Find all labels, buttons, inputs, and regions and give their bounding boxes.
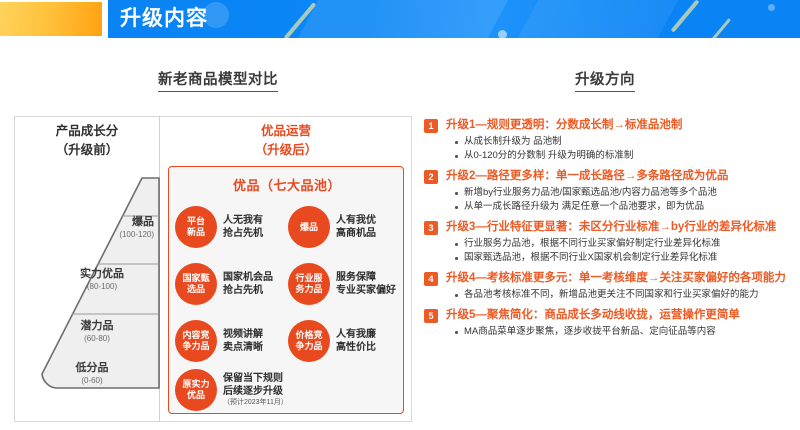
new-model-title-line1: 优品运营 (261, 124, 311, 138)
tier-name: 爆品 (70, 216, 154, 229)
header-banner: 升级内容 (108, 0, 800, 38)
pool-description: 人有我廉 高性价比 (336, 328, 376, 354)
pool-desc-line2: 抢占先机 (223, 228, 263, 239)
upgrade-number-badge: 5 (424, 309, 438, 323)
pool-desc-line1: 人有我廉 (336, 329, 376, 340)
upgrade-number-badge: 4 (424, 272, 438, 286)
upgrade-item[interactable]: 4 升级4—考核标准更多元：单一考核维度→关注买家偏好的各项能力 各品池考核标准… (424, 271, 796, 302)
pool-item[interactable]: 行业服务力品 服务保障 专业买家偏好 (288, 256, 399, 313)
slide-root: 升级内容 新老商品模型对比 升级方向 产品成长分 （升级前） 爆品 (100-1… (0, 0, 800, 430)
pool-bubble-label: 国家甄选品 (182, 273, 209, 295)
upgrade-bullet: 新增by行业服务力品池/国家甄选品池/内容力品池等多个品池 (454, 186, 796, 200)
pool-bubble: 平台新品 (175, 206, 217, 248)
tier-row-baopin: 爆品 (100-120) (70, 216, 154, 240)
upgrade-bullet: 从成长制升级为 品池制 (454, 135, 796, 149)
pool-desc-note: （预计2023年11月） (223, 398, 288, 408)
tier-row-difenpin: 低分品 (0-60) (30, 362, 154, 386)
header-accent-block (0, 2, 102, 36)
pool-description: 人有我优 高商机品 (336, 214, 376, 240)
upgrade-bullets: 从成长制升级为 品池制 从0-120分的分数制 升级为明确的标准制 (454, 135, 796, 163)
pool-bubble: 原实力优品 (175, 369, 217, 411)
upgrade-bullet: 国家甄选品池，根据不同行业X国家机会制定行业差异化标准 (454, 251, 796, 265)
pool-description: 保留当下规则 后续逐步升级 （预计2023年11月） (223, 372, 288, 408)
pool-desc-line1: 国家机会品 (223, 272, 273, 283)
upgrade-item[interactable]: 2 升级2—路径更多样：单一成长路径→多条路径成为优品 新增by行业服务力品池/… (424, 169, 796, 214)
upgrade-bullet: 从单一成长路径升级为 满足任意一个品池要求，即为优品 (454, 200, 796, 214)
upgrade-title: 升级2—路径更多样：单一成长路径→多条路径成为优品 (446, 169, 728, 184)
tier-row-qianlipin: 潜力品 (60-80) (40, 320, 154, 344)
pool-desc-line2: 专业买家偏好 (336, 285, 396, 296)
pool-bubble: 内容竞争力品 (175, 320, 217, 362)
pool-bubble: 行业服务力品 (288, 263, 330, 305)
pool-box-header: 优品（七大品池） (169, 175, 405, 194)
pool-bubble: 国家甄选品 (175, 263, 217, 305)
pool-desc-line2: 后续逐步升级 (223, 386, 283, 397)
upgrade-bullet: 行业服务力品池，根据不同行业买家偏好制定行业差异化标准 (454, 237, 796, 251)
tier-name: 潜力品 (40, 320, 154, 333)
upgrade-directions-list: 1 升级1—规则更透明：分数成长制→标准品池制 从成长制升级为 品池制 从0-1… (424, 118, 796, 345)
upgrade-title: 升级1—规则更透明：分数成长制→标准品池制 (446, 118, 682, 133)
pool-desc-line1: 保留当下规则 (223, 373, 283, 384)
upgrade-bullet: MA商品菜单逐步聚焦，逐步收拢平台新品、定向征品等内容 (454, 325, 796, 339)
old-model-panel: 产品成长分 （升级前） 爆品 (100-120) 实力优品 (80-100) 潜… (14, 116, 160, 422)
upgrade-item-header: 4 升级4—考核标准更多元：单一考核维度→关注买家偏好的各项能力 (424, 271, 796, 286)
upgrade-bullet: 从0-120分的分数制 升级为明确的标准制 (454, 149, 796, 163)
upgrade-bullets: MA商品菜单逐步聚焦，逐步收拢平台新品、定向征品等内容 (454, 325, 796, 339)
tier-row-shiliyoupin: 实力优品 (80-100) (50, 268, 154, 292)
banner-dot-icon (498, 30, 507, 38)
pool-desc-line1: 服务保障 (336, 272, 376, 283)
product-pool-box: 优品（七大品池） 平台新品 人无我有 抢占先机 爆品 人有我优 高商机品 (168, 166, 404, 414)
banner-wedge-decoration-2 (512, 0, 685, 38)
pool-bubble-label: 爆品 (300, 222, 318, 233)
banner-stripe-decoration-3 (712, 18, 731, 38)
pool-item[interactable]: 爆品 人有我优 高商机品 (288, 199, 399, 256)
pool-description: 视频讲解 卖点清晰 (223, 328, 263, 354)
upgrade-number-badge: 2 (424, 170, 438, 184)
pool-description: 人无我有 抢占先机 (223, 214, 263, 240)
page-title: 升级内容 (120, 5, 208, 33)
tier-range: (100-120) (70, 229, 154, 240)
upgrade-item[interactable]: 5 升级5—聚焦简化：商品成长多动线收拢，运营操作更简单 MA商品菜单逐步聚焦，… (424, 308, 796, 339)
upgrade-title: 升级4—考核标准更多元：单一考核维度→关注买家偏好的各项能力 (446, 271, 786, 286)
pool-desc-line1: 人无我有 (223, 215, 263, 226)
new-model-title-line2: （升级后） (255, 143, 318, 157)
tier-range: (80-100) (50, 281, 154, 292)
tier-range: (60-80) (40, 333, 154, 344)
pool-desc-line1: 视频讲解 (223, 329, 263, 340)
pool-desc-line2: 高性价比 (336, 342, 376, 353)
pool-grid: 平台新品 人无我有 抢占先机 爆品 人有我优 高商机品 (175, 199, 399, 411)
pool-bubble-label: 原实力优品 (182, 379, 209, 401)
pool-item[interactable]: 原实力优品 保留当下规则 后续逐步升级 （预计2023年11月） (175, 369, 399, 411)
tier-name: 低分品 (30, 362, 154, 375)
upgrade-title: 升级3—行业特征更显著：未区分行业标准→by行业的差异化标准 (446, 220, 776, 235)
upgrade-bullet: 各品池考核标准不同，新增品池更关注不同国家和行业买家偏好的能力 (454, 288, 796, 302)
pool-description: 服务保障 专业买家偏好 (336, 271, 396, 297)
pool-description: 国家机会品 抢占先机 (223, 271, 273, 297)
pool-bubble-label: 价格竞争力品 (295, 330, 322, 352)
upgrade-item[interactable]: 3 升级3—行业特征更显著：未区分行业标准→by行业的差异化标准 行业服务力品池… (424, 220, 796, 265)
new-model-panel: 优品运营 （升级后） 优品（七大品池） 平台新品 人无我有 抢占先机 爆品 (160, 116, 412, 422)
model-comparison-diagram: 产品成长分 （升级前） 爆品 (100-120) 实力优品 (80-100) 潜… (14, 116, 412, 422)
upgrade-title: 升级5—聚焦简化：商品成长多动线收拢，运营操作更简单 (446, 308, 740, 323)
upgrade-bullets: 各品池考核标准不同，新增品池更关注不同国家和行业买家偏好的能力 (454, 288, 796, 302)
upgrade-item-header: 5 升级5—聚焦简化：商品成长多动线收拢，运营操作更简单 (424, 308, 796, 323)
tier-range: (0-60) (30, 375, 154, 386)
upgrade-bullets: 行业服务力品池，根据不同行业买家偏好制定行业差异化标准 国家甄选品池，根据不同行… (454, 237, 796, 265)
page-header: 升级内容 (0, 0, 800, 42)
upgrade-item-header: 2 升级2—路径更多样：单一成长路径→多条路径成为优品 (424, 169, 796, 184)
upgrade-item-header: 3 升级3—行业特征更显著：未区分行业标准→by行业的差异化标准 (424, 220, 796, 235)
pool-bubble-label: 行业服务力品 (295, 273, 322, 295)
pool-bubble-label: 内容竞争力品 (182, 330, 209, 352)
upgrade-number-badge: 1 (424, 119, 438, 133)
upgrade-item[interactable]: 1 升级1—规则更透明：分数成长制→标准品池制 从成长制升级为 品池制 从0-1… (424, 118, 796, 163)
upgrade-item-header: 1 升级1—规则更透明：分数成长制→标准品池制 (424, 118, 796, 133)
pool-item[interactable]: 内容竞争力品 视频讲解 卖点清晰 (175, 312, 286, 369)
upgrade-number-badge: 3 (424, 221, 438, 235)
pool-bubble: 爆品 (288, 206, 330, 248)
pool-desc-line2: 卖点清晰 (223, 342, 263, 353)
banner-wedge-decoration (292, 0, 515, 38)
pool-item[interactable]: 国家甄选品 国家机会品 抢占先机 (175, 256, 286, 313)
pool-desc-line2: 抢占先机 (223, 285, 263, 296)
pool-item[interactable]: 价格竞争力品 人有我廉 高性价比 (288, 312, 399, 369)
banner-dot-icon-2 (768, 4, 775, 11)
tier-name: 实力优品 (50, 268, 154, 281)
pool-desc-line2: 高商机品 (336, 228, 376, 239)
section-title-comparison: 新老商品模型对比 (158, 68, 278, 92)
new-model-title: 优品运营 （升级后） (160, 122, 412, 160)
pool-item[interactable]: 平台新品 人无我有 抢占先机 (175, 199, 286, 256)
upgrade-bullets: 新增by行业服务力品池/国家甄选品池/内容力品池等多个品池 从单一成长路径升级为… (454, 186, 796, 214)
pool-bubble: 价格竞争力品 (288, 320, 330, 362)
pool-bubble-label: 平台新品 (187, 216, 205, 238)
pool-desc-line1: 人有我优 (336, 215, 376, 226)
section-title-directions: 升级方向 (575, 68, 635, 92)
